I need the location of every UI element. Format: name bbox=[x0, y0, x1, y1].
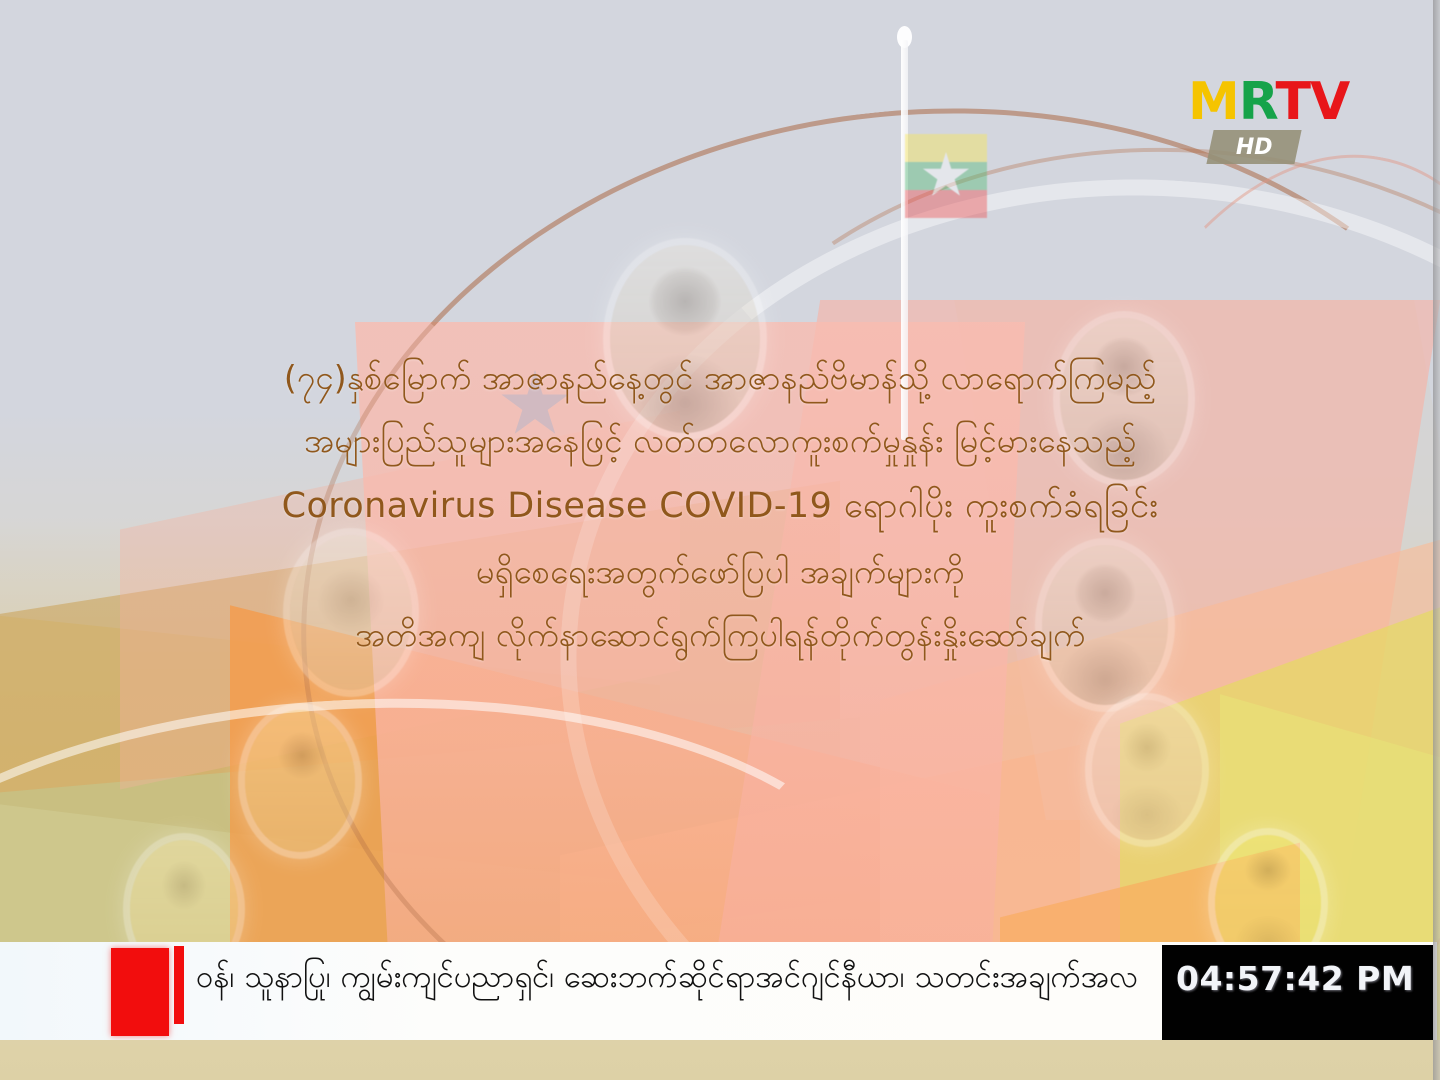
flag-band-red bbox=[905, 190, 987, 218]
bottom-strip bbox=[0, 1040, 1440, 1080]
headline-line-5: အတိအကျ လိုက်နာဆောင်ရွက်ကြပါရန်တိုက်တွန်း… bbox=[60, 603, 1380, 666]
logo-letter-v: V bbox=[1310, 72, 1349, 132]
martyrs-portrait bbox=[245, 710, 355, 852]
hd-badge-label: HD bbox=[1236, 135, 1273, 160]
logo-letter-r: R bbox=[1239, 72, 1276, 132]
myanmar-flag-icon bbox=[905, 134, 987, 218]
headline-line-1: (၇၄)နှစ်မြောက် အာဇာနည်နေ့တွင် အာဇာနည်ဗိမ… bbox=[60, 346, 1380, 409]
headline-line-2: အများပြည်သူများအနေဖြင့် လတ်တလောကူးစက်မှု… bbox=[60, 409, 1380, 472]
headline-line-3: Coronavirus Disease COVID-19 ရောဂါပိုး က… bbox=[60, 473, 1380, 540]
headline-block: (၇၄)နှစ်မြောက် အာဇာနည်နေ့တွင် အာဇာနည်ဗိမ… bbox=[0, 346, 1440, 667]
right-frame-edge bbox=[1433, 0, 1440, 1080]
clock-box: 04:57:42 PM bbox=[1162, 945, 1433, 1040]
ticker-red-bar-icon bbox=[174, 946, 184, 1024]
headline-line-4: မရှိစေရေးအတွက်ဖော်ပြပါ အချက်များကို bbox=[60, 540, 1380, 603]
logo-letter-m: M bbox=[1188, 72, 1239, 132]
ticker-red-block-icon bbox=[111, 948, 169, 1036]
portrait-face bbox=[1092, 700, 1202, 840]
ticker-text: ဝန်၊ သူနာပြု၊ ကျွမ်းကျင်ပညာရှင်၊ ဆေးဘက်ဆ… bbox=[196, 954, 1138, 1001]
channel-logo-wordmark: MRTV bbox=[1188, 76, 1349, 128]
hd-badge: HD bbox=[1206, 130, 1301, 164]
broadcast-screen: MRTV HD (၇၄)နှစ်မြောက် အာဇာနည်နေ့တွင် အာ… bbox=[0, 0, 1440, 1080]
martyrs-portrait bbox=[1092, 700, 1202, 840]
logo-letter-t: T bbox=[1275, 72, 1309, 132]
clock-time: 04:57:42 PM bbox=[1176, 959, 1414, 998]
portrait-face bbox=[245, 710, 355, 852]
channel-logo: MRTV HD bbox=[1188, 76, 1349, 164]
